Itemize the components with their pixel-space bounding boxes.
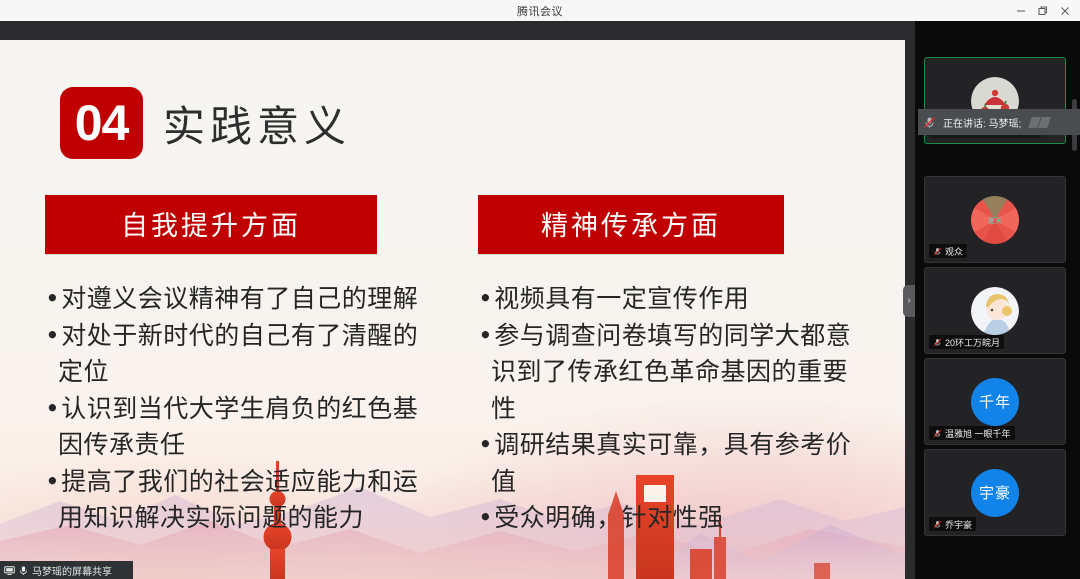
microphone-icon bbox=[18, 565, 29, 576]
audio-wave-icon bbox=[1030, 117, 1049, 128]
participant-name: 观众 bbox=[945, 245, 963, 258]
minimize-button[interactable] bbox=[1010, 1, 1032, 21]
avatar-initials: 宇豪 bbox=[979, 482, 1011, 503]
shared-screen-stage: 04 实践意义 自我提升方面 对遵义会议精神有了自己的理解 对处于新时代的自己有… bbox=[0, 21, 915, 579]
stage-letterbox-top bbox=[0, 21, 915, 40]
participants-rail: 马梦瑶的屏幕共享 正在讲话: 马梦瑶; bbox=[915, 21, 1080, 579]
section-heading: 自我提升方面 bbox=[45, 195, 377, 254]
restore-button[interactable] bbox=[1032, 1, 1054, 21]
mic-muted-icon bbox=[933, 338, 942, 347]
participant-tile[interactable]: 千年 温雅旭 一眼千年 bbox=[924, 358, 1066, 445]
title-bar: 腾讯会议 bbox=[0, 0, 1080, 22]
participant-name: 20环工万皖月 bbox=[945, 336, 1000, 349]
bullet-item: 提高了我们的社会适应能力和运用知识解决实际问题的能力 bbox=[45, 464, 435, 537]
presentation-slide: 04 实践意义 自我提升方面 对遵义会议精神有了自己的理解 对处于新时代的自己有… bbox=[0, 40, 905, 579]
bullet-item: 认识到当代大学生肩负的红色基因传承责任 bbox=[45, 391, 435, 464]
bullet-list: 视频具有一定宣传作用 参与调查问卷填写的同学大都意识到了传承红色革命基因的重要性… bbox=[478, 281, 868, 537]
participant-name: 温雅旭 一眼千年 bbox=[945, 427, 1011, 440]
avatar-initials: 千年 bbox=[979, 391, 1011, 412]
tencent-meeting-window: 腾讯会议 bbox=[0, 0, 1080, 579]
bullet-item: 调研结果真实可靠，具有参考价值 bbox=[478, 427, 868, 500]
slide-columns: 自我提升方面 对遵义会议精神有了自己的理解 对处于新时代的自己有了清醒的定位 认… bbox=[0, 40, 905, 579]
screen-share-status-bar: 马梦瑶的屏幕共享 bbox=[0, 561, 133, 579]
avatar: 夏天 bbox=[971, 196, 1019, 244]
tile-name-chip: 观众 bbox=[929, 244, 967, 258]
bullet-item: 对处于新时代的自己有了清醒的定位 bbox=[45, 318, 435, 391]
bullet-item: 参与调查问卷填写的同学大都意识到了传承红色革命基因的重要性 bbox=[478, 318, 868, 428]
participants-list: 马梦瑶的屏幕共享 正在讲话: 马梦瑶; bbox=[915, 21, 1073, 579]
mic-muted-icon bbox=[923, 116, 936, 129]
section-heading: 精神传承方面 bbox=[478, 195, 784, 254]
window-controls bbox=[1010, 0, 1076, 21]
column-spirit-inheritance: 精神传承方面 视频具有一定宣传作用 参与调查问卷填写的同学大都意识到了传承红色革… bbox=[478, 195, 868, 537]
participants-scrollbar[interactable] bbox=[1072, 21, 1077, 579]
mic-muted-icon bbox=[933, 520, 942, 529]
participant-tile[interactable]: 夏天 观众 bbox=[924, 176, 1066, 263]
bullet-item: 对遵义会议精神有了自己的理解 bbox=[45, 281, 435, 318]
speaking-indicator-toast: 正在讲话: 马梦瑶; bbox=[918, 109, 1080, 135]
column-self-improvement: 自我提升方面 对遵义会议精神有了自己的理解 对处于新时代的自己有了清醒的定位 认… bbox=[45, 195, 435, 537]
tile-name-chip: 20环工万皖月 bbox=[929, 335, 1004, 349]
mic-muted-icon bbox=[933, 429, 942, 438]
svg-text:夏天: 夏天 bbox=[988, 217, 1002, 225]
bullet-list: 对遵义会议精神有了自己的理解 对处于新时代的自己有了清醒的定位 认识到当代大学生… bbox=[45, 281, 435, 537]
mic-muted-icon bbox=[933, 247, 942, 256]
bullet-item: 受众明确，针对性强 bbox=[478, 500, 868, 537]
participant-tile[interactable]: 宇豪 乔宇豪 bbox=[924, 449, 1066, 536]
avatar: 千年 bbox=[971, 378, 1019, 426]
tile-name-chip: 温雅旭 一眼千年 bbox=[929, 426, 1015, 440]
monitor-icon bbox=[4, 565, 15, 576]
tile-name-chip: 乔宇豪 bbox=[929, 517, 976, 531]
close-button[interactable] bbox=[1054, 1, 1076, 21]
speaking-label: 正在讲话: 马梦瑶; bbox=[943, 115, 1021, 130]
chevron-right-icon[interactable]: › bbox=[903, 285, 915, 317]
avatar: 宇豪 bbox=[971, 469, 1019, 517]
bullet-item: 视频具有一定宣传作用 bbox=[478, 281, 868, 318]
avatar bbox=[971, 287, 1019, 335]
share-status-label: 马梦瑶的屏幕共享 bbox=[32, 563, 112, 578]
participant-name: 乔宇豪 bbox=[945, 518, 972, 531]
participant-tile[interactable]: 20环工万皖月 bbox=[924, 267, 1066, 354]
window-title: 腾讯会议 bbox=[517, 3, 563, 19]
